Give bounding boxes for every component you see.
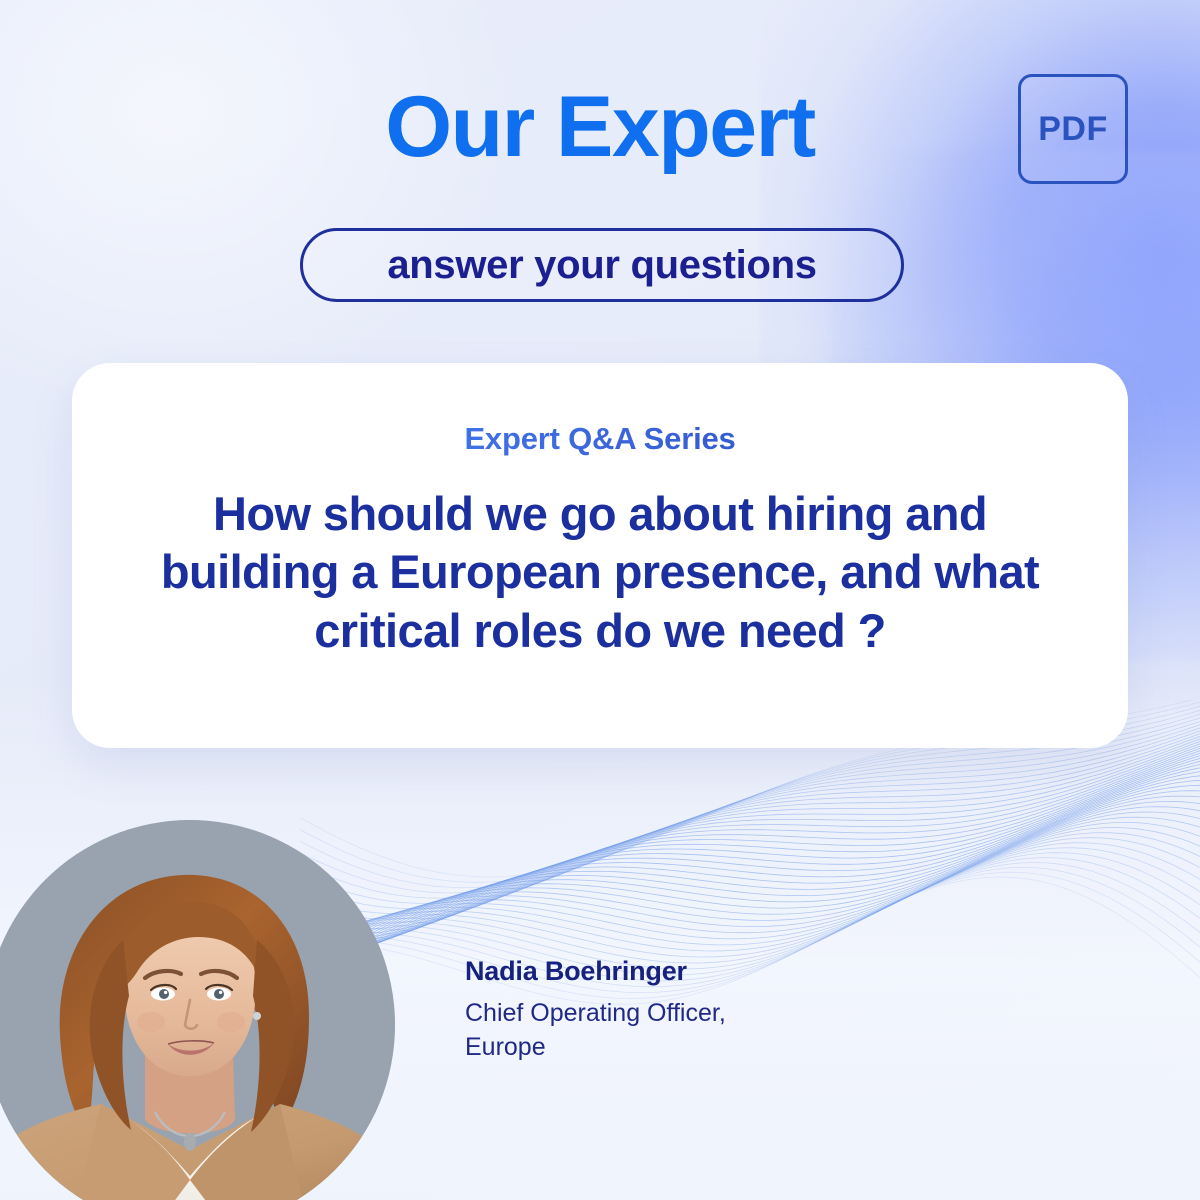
subtitle-pill: answer your questions	[300, 228, 904, 302]
card-question-text: How should we go about hiring and buildi…	[132, 485, 1068, 660]
pdf-badge[interactable]: PDF	[1018, 74, 1128, 184]
pdf-badge-label: PDF	[1038, 110, 1108, 149]
expert-attribution: Nadia Boehringer Chief Operating Officer…	[465, 955, 885, 1065]
background-highlight-topleft	[0, 0, 520, 420]
expert-role: Chief Operating Officer, Europe	[465, 996, 795, 1065]
question-card: Expert Q&A Series How should we go about…	[72, 363, 1128, 748]
card-eyebrow-label: Expert Q&A Series	[72, 421, 1128, 457]
portrait-photo	[0, 820, 395, 1200]
subtitle-pill-label: answer your questions	[387, 243, 816, 288]
expert-name: Nadia Boehringer	[465, 955, 885, 989]
poster-canvas: Our Expert answer your questions PDF Exp…	[0, 0, 1200, 1200]
avatar	[0, 820, 395, 1200]
